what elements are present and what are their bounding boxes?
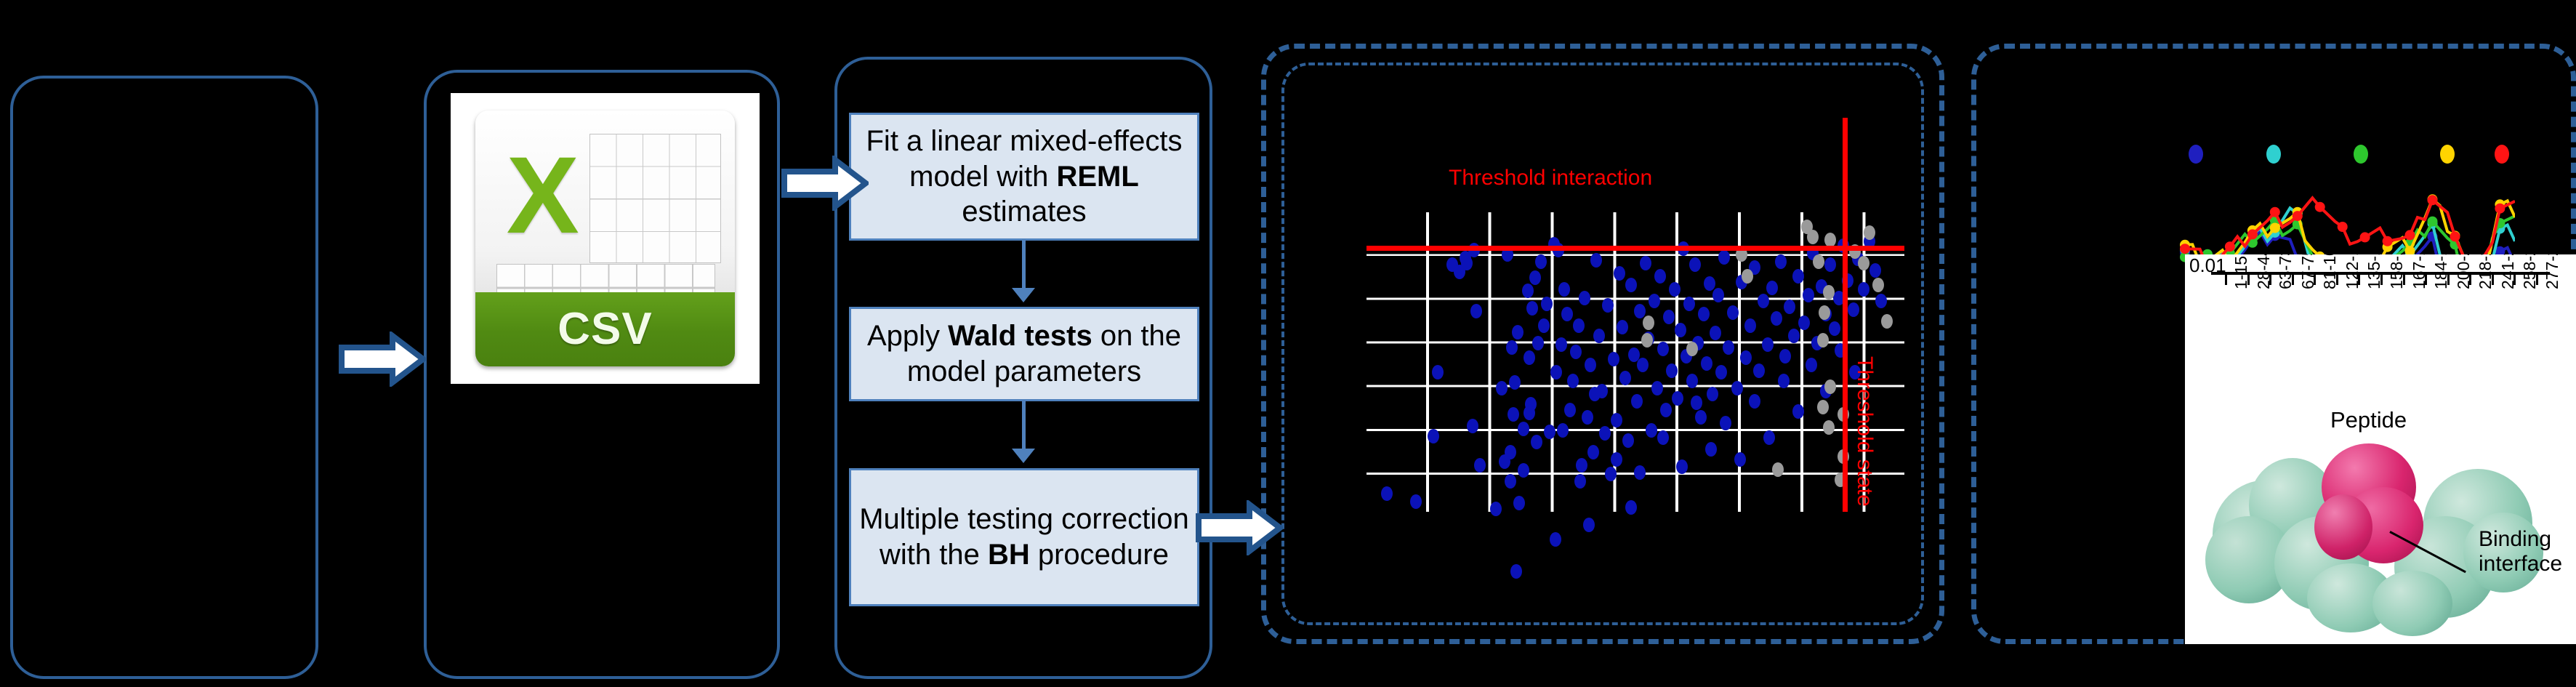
series-marker-red [2247, 229, 2258, 239]
peptide-label-63-73: 63-73 [2276, 254, 2295, 289]
series-marker-red [2270, 207, 2280, 217]
binding-interface-annotation: Binding interface [2479, 527, 2562, 576]
csv-file-icon: X CSV [451, 93, 760, 384]
csv-grid-upper [589, 134, 721, 263]
step1-seg3: estimates [962, 196, 1086, 228]
series-marker-red [2428, 195, 2438, 205]
step3-bold: BH [988, 539, 1030, 571]
step1-bold: REML [1056, 161, 1138, 193]
series-marker-red [2315, 202, 2325, 212]
step-fit-model: Fit a linear mixed-effects model with RE… [849, 113, 1199, 241]
peptide-label-135-144: 135-144 [2364, 254, 2384, 289]
peptide-label-200-214: 200-214 [2454, 254, 2474, 289]
series-marker-red [2360, 232, 2370, 242]
binding-interface-line2: interface [2479, 552, 2562, 576]
series-marker-red [2495, 204, 2505, 214]
csv-label: CSV [475, 292, 735, 366]
arrow-3 [1196, 500, 1283, 555]
arrow-1 [339, 332, 426, 387]
threshold-state-line [1843, 118, 1848, 512]
connector-2-3-head [1012, 449, 1035, 463]
peptide-label-241-257: 241-257 [2498, 254, 2518, 289]
series-marker-yellow [2270, 223, 2280, 233]
peptide-label-184-199: 184-199 [2431, 254, 2451, 289]
binding-interface-line1: Binding [2479, 527, 2562, 552]
ligand-blob-3 [2314, 494, 2372, 560]
figure-canvas: X CSV Fit a linear mixed-effects model w… [0, 0, 2576, 687]
step-multiple-testing: Multiple testing correction with the BH … [849, 468, 1199, 606]
peptide-label-28-44: 28-44 [2254, 254, 2274, 289]
peptide-label-67-75: 67-75 [2298, 254, 2318, 289]
results-card: 0.01 1-1528-4463-7367-7581-101122-129135… [2185, 254, 2576, 644]
peptide-label-158-166: 158-166 [2387, 254, 2407, 289]
csv-icon-body: X CSV [475, 111, 735, 366]
series-marker-red [2450, 231, 2460, 241]
arrow-2 [781, 156, 869, 211]
threshold-interaction-line [1367, 246, 1904, 251]
series-marker-red [2225, 241, 2235, 252]
series-marker-red [2383, 236, 2393, 246]
threshold-interaction-label: Threshold interaction [1449, 166, 1652, 190]
peptide-label-1-15: 1-15 [2231, 256, 2251, 289]
step3-seg3: procedure [1030, 539, 1169, 571]
peptide-label-122-129: 122-129 [2343, 254, 2362, 289]
peptide-axis-title: Peptide [2330, 407, 2407, 433]
series-marker-red [2293, 211, 2303, 221]
threshold-state-label: Threshold state [1852, 356, 1877, 507]
step2-seg1: Apply [867, 320, 948, 352]
excel-x-glyph: X [486, 121, 600, 269]
connector-1-2 [1022, 241, 1026, 290]
step2-bold: Wald tests [948, 320, 1092, 352]
peptide-label-218-237: 218-237 [2476, 254, 2495, 289]
connector-1-2-head [1012, 288, 1035, 302]
step-wald-tests: Apply Wald tests on the model parameters [849, 307, 1199, 401]
series-marker-red [2180, 244, 2190, 254]
series-marker-green [2428, 217, 2438, 227]
peptide-label-277-284: 277-284 [2543, 254, 2562, 289]
peptide-label-258-266: 258-266 [2520, 254, 2540, 289]
connector-2-3 [1022, 401, 1026, 451]
series-marker-red [2405, 230, 2415, 240]
peptide-label-167-180: 167-180 [2410, 254, 2429, 289]
peptide-label-81-101: 81-101 [2320, 254, 2340, 289]
peptide-tick [2225, 273, 2227, 285]
scatter-plot [1367, 212, 1904, 512]
series-marker-red [2338, 222, 2348, 232]
input-panel [10, 76, 318, 679]
